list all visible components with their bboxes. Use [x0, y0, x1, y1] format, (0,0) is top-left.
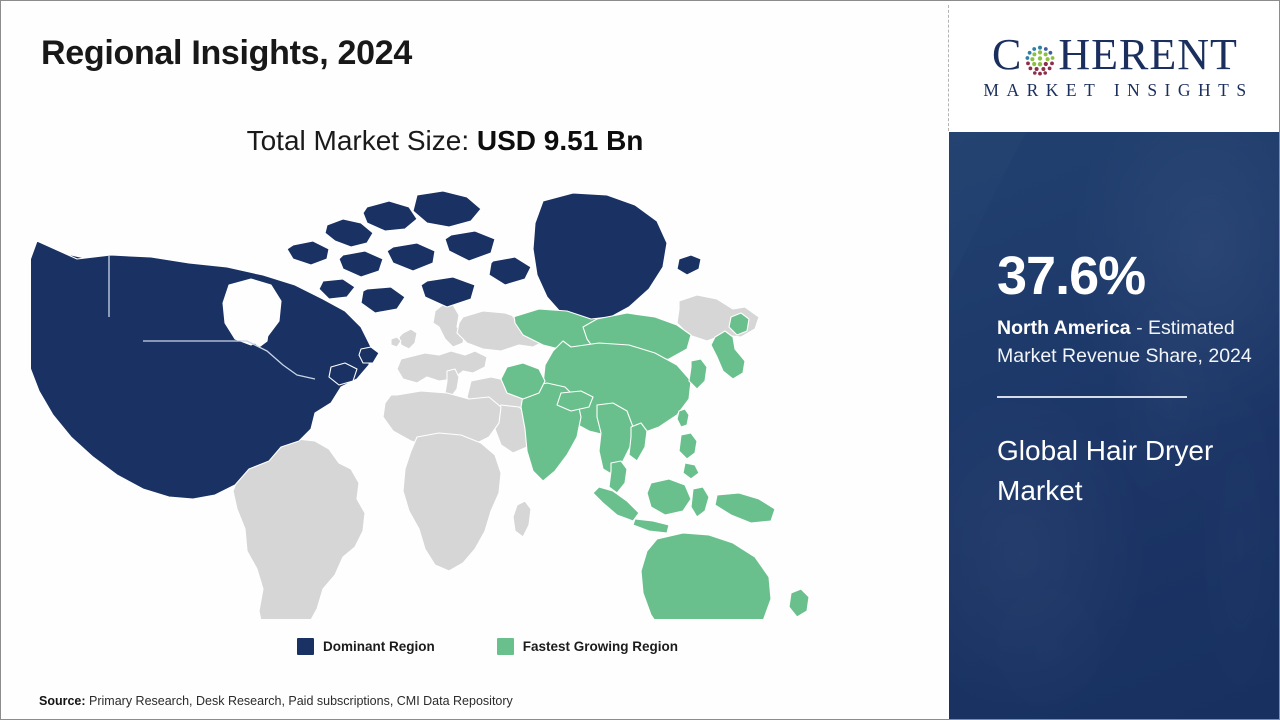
logo-tagline: MARKET INSIGHTS — [976, 80, 1253, 101]
stat-region-name: North America — [997, 317, 1131, 339]
page-title: Regional Insights, 2024 — [41, 34, 412, 73]
source-text: Primary Research, Desk Research, Paid su… — [86, 694, 513, 708]
square-swatch-icon — [297, 638, 314, 655]
stat-description: North America - Estimated Market Revenue… — [997, 315, 1263, 370]
legend-item-fastest-growing[interactable]: Fastest Growing Region — [497, 638, 678, 655]
left-content-pane: Regional Insights, 2024 Total Market Siz… — [1, 1, 949, 719]
square-swatch-icon — [497, 638, 514, 655]
legend-item-dominant[interactable]: Dominant Region — [297, 638, 435, 655]
logo-word-after: HERENT — [1058, 33, 1238, 77]
panel-divider-rule — [997, 396, 1187, 397]
total-market-size: Total Market Size: USD 9.51 Bn — [1, 125, 889, 157]
legend-label-fastest-growing: Fastest Growing Region — [523, 639, 678, 654]
map-fastest-growing-regions — [501, 309, 815, 619]
regional-insights-slide: Regional Insights, 2024 Total Market Siz… — [0, 0, 1280, 720]
source-note: Source: Primary Research, Desk Research,… — [39, 694, 513, 708]
logo-word-before: C — [992, 33, 1022, 77]
logo-wordmark: C — [992, 33, 1238, 77]
world-map[interactable] — [31, 189, 851, 619]
legend-label-dominant: Dominant Region — [323, 639, 435, 654]
total-market-size-value: USD 9.51 Bn — [477, 125, 644, 156]
map-legend: Dominant Region Fastest Growing Region — [297, 638, 678, 655]
market-name: Global Hair Dryer Market — [997, 431, 1247, 511]
highlight-panel: 37.6% North America - Estimated Market R… — [949, 132, 1280, 719]
world-map-svg — [31, 189, 851, 619]
brand-logo[interactable]: C — [950, 2, 1280, 132]
total-market-size-label: Total Market Size: — [247, 125, 477, 156]
vertical-dashed-divider — [948, 5, 949, 131]
dotted-globe-icon — [1023, 41, 1057, 75]
source-label: Source: — [39, 694, 86, 708]
stat-value: 37.6% — [997, 249, 1280, 303]
highlight-panel-content: 37.6% North America - Estimated Market R… — [949, 249, 1280, 510]
